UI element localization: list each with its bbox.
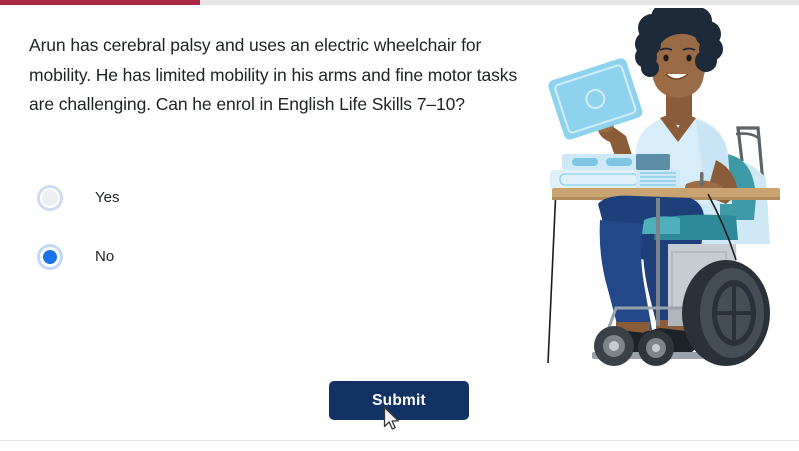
student-in-wheelchair-illustration [540,8,799,370]
option-row-yes[interactable]: Yes [29,168,329,227]
progress-bar-fill [0,0,200,5]
option-label-yes: Yes [95,190,119,205]
question-text: Arun has cerebral palsy and uses an elec… [29,31,534,120]
rear-wheel [682,260,770,366]
eye-right [686,55,691,62]
book-stack [550,154,680,190]
head [635,8,723,98]
desk-leg-left [548,188,556,363]
seat-cushion-front [642,216,680,234]
eye-left [663,55,668,62]
radio-button-yes[interactable] [37,185,63,211]
answer-options-group: Yes No [29,168,329,286]
option-row-no[interactable]: No [29,227,329,286]
submit-button[interactable]: Submit [329,381,469,420]
radio-button-no[interactable] [37,244,63,270]
option-label-no: No [95,249,114,264]
stylus [700,172,704,186]
radio-selected-dot [43,250,57,264]
tablet [547,57,644,141]
progress-bar-track [0,0,799,5]
bottom-divider [0,440,799,441]
